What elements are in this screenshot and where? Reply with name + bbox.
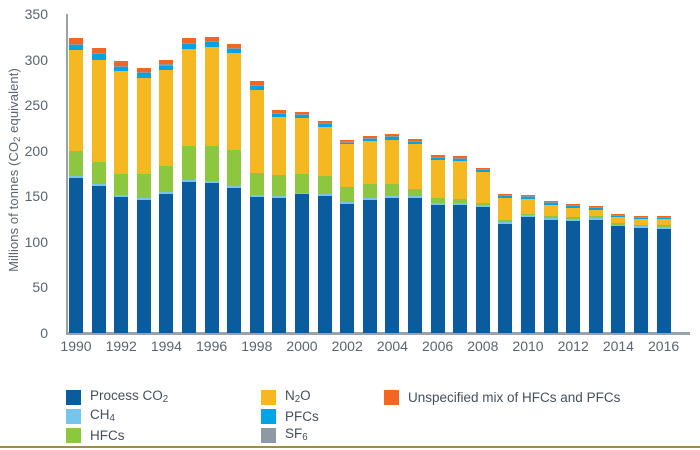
y-tick-label: 0 bbox=[8, 325, 48, 341]
legend-label-unspecified-mix: Unspecified mix of HFCs and PFCs bbox=[408, 390, 620, 405]
bar-segment-hfcs bbox=[92, 162, 106, 185]
bar-2008[interactable] bbox=[476, 168, 490, 333]
x-tick-label: 2004 bbox=[368, 338, 416, 354]
bar-segment-process-co2 bbox=[521, 217, 535, 333]
bar-2012[interactable] bbox=[566, 204, 580, 333]
bar-group bbox=[69, 14, 689, 333]
bar-2011[interactable] bbox=[544, 201, 558, 333]
legend-swatch-pfcs bbox=[261, 409, 276, 424]
y-tick-label: 150 bbox=[8, 188, 48, 204]
bar-segment-n2o bbox=[453, 161, 467, 199]
legend-label-sf6: SF6 bbox=[285, 426, 308, 443]
legend-item-n2o[interactable]: N2O bbox=[261, 388, 319, 406]
legend-item-ch4[interactable]: CH4 bbox=[66, 407, 168, 425]
bar-2015[interactable] bbox=[634, 216, 648, 333]
bar-segment-process-co2 bbox=[205, 183, 219, 333]
bar-segment-hfcs bbox=[295, 174, 309, 193]
bar-segment-process-co2 bbox=[250, 197, 264, 333]
chart-legend: Process CO2CH4HFCsN2OPFCsSF6Unspecified … bbox=[66, 388, 686, 444]
x-tick-label: 2010 bbox=[504, 338, 552, 354]
bar-segment-process-co2 bbox=[566, 221, 580, 333]
x-tick-label: 1998 bbox=[233, 338, 281, 354]
legend-swatch-ch4 bbox=[66, 409, 81, 424]
bar-segment-process-co2 bbox=[363, 200, 377, 333]
bar-segment-process-co2 bbox=[544, 220, 558, 333]
bar-segment-hfcs bbox=[340, 187, 354, 202]
bar-segment-process-co2 bbox=[137, 200, 151, 333]
bar-segment-n2o bbox=[295, 118, 309, 174]
bar-2009[interactable] bbox=[498, 194, 512, 333]
legend-swatch-process-co2 bbox=[66, 390, 81, 405]
x-tick-label: 1994 bbox=[142, 338, 190, 354]
bar-segment-hfcs bbox=[318, 176, 332, 194]
x-tick-label: 1990 bbox=[52, 338, 100, 354]
plot-area: 050100150200250300350 bbox=[66, 14, 690, 334]
bar-1992[interactable] bbox=[114, 61, 128, 333]
legend-column-2: Unspecified mix of HFCs and PFCs bbox=[384, 388, 620, 407]
y-tick-label: 350 bbox=[8, 6, 48, 22]
legend-swatch-hfcs bbox=[66, 428, 81, 443]
bar-1994[interactable] bbox=[159, 60, 173, 333]
bar-segment-n2o bbox=[431, 160, 445, 198]
bar-segment-n2o bbox=[521, 199, 535, 214]
x-axis-ticks: 1990199219941996199820002002200420062008… bbox=[66, 338, 690, 362]
legend-label-hfcs: HFCs bbox=[90, 428, 125, 443]
bar-segment-n2o bbox=[408, 144, 422, 189]
y-tick-label: 200 bbox=[8, 143, 48, 159]
x-tick-label: 2016 bbox=[640, 338, 688, 354]
bar-segment-process-co2 bbox=[272, 198, 286, 333]
legend-column-0: Process CO2CH4HFCs bbox=[66, 388, 168, 445]
bar-segment-n2o bbox=[137, 78, 151, 175]
bar-segment-n2o bbox=[476, 172, 490, 203]
legend-item-process-co2[interactable]: Process CO2 bbox=[66, 388, 168, 406]
bar-segment-process-co2 bbox=[227, 188, 241, 333]
bar-segment-hfcs bbox=[408, 189, 422, 196]
bar-2007[interactable] bbox=[453, 156, 467, 333]
bar-segment-process-co2 bbox=[340, 204, 354, 333]
bar-1997[interactable] bbox=[227, 44, 241, 333]
bar-segment-process-co2 bbox=[453, 205, 467, 334]
bar-1993[interactable] bbox=[137, 68, 151, 333]
bar-segment-process-co2 bbox=[318, 196, 332, 333]
x-tick-label: 2008 bbox=[459, 338, 507, 354]
bar-segment-n2o bbox=[250, 90, 264, 173]
bar-segment-n2o bbox=[227, 53, 241, 150]
bar-segment-process-co2 bbox=[589, 220, 603, 333]
legend-swatch-sf6 bbox=[261, 428, 276, 443]
y-tick-label: 300 bbox=[8, 52, 48, 68]
bar-2005[interactable] bbox=[408, 139, 422, 333]
x-tick-label: 2000 bbox=[278, 338, 326, 354]
bar-segment-process-co2 bbox=[295, 194, 309, 333]
legend-item-hfcs[interactable]: HFCs bbox=[66, 426, 168, 444]
legend-item-unspecified-mix[interactable]: Unspecified mix of HFCs and PFCs bbox=[384, 388, 620, 406]
bar-segment-n2o bbox=[205, 47, 219, 146]
y-tick-label: 100 bbox=[8, 234, 48, 250]
x-tick-label: 2002 bbox=[323, 338, 371, 354]
bottom-divider bbox=[0, 446, 700, 448]
bar-2010[interactable] bbox=[521, 195, 535, 333]
bar-segment-hfcs bbox=[69, 151, 83, 177]
bar-segment-hfcs bbox=[227, 150, 241, 186]
bar-segment-process-co2 bbox=[498, 224, 512, 333]
bar-segment-n2o bbox=[182, 49, 196, 147]
bar-segment-n2o bbox=[544, 205, 558, 217]
bar-segment-process-co2 bbox=[408, 198, 422, 333]
bar-segment-hfcs bbox=[205, 146, 219, 181]
bar-segment-hfcs bbox=[114, 174, 128, 195]
bar-segment-n2o bbox=[318, 127, 332, 176]
bar-2004[interactable] bbox=[385, 134, 399, 333]
legend-column-1: N2OPFCsSF6 bbox=[261, 388, 319, 445]
bar-segment-process-co2 bbox=[611, 226, 625, 333]
bar-segment-process-co2 bbox=[92, 186, 106, 333]
bar-segment-process-co2 bbox=[657, 229, 671, 333]
legend-swatch-n2o bbox=[261, 390, 276, 405]
bar-2001[interactable] bbox=[318, 121, 332, 333]
legend-item-sf6[interactable]: SF6 bbox=[261, 426, 319, 444]
bar-segment-hfcs bbox=[159, 166, 173, 192]
bar-1996[interactable] bbox=[205, 37, 219, 333]
y-tick-label: 50 bbox=[8, 279, 48, 295]
bar-segment-n2o bbox=[272, 117, 286, 175]
x-tick-label: 2014 bbox=[594, 338, 642, 354]
bar-1998[interactable] bbox=[250, 81, 264, 333]
bar-segment-n2o bbox=[114, 71, 128, 174]
x-tick-label: 2006 bbox=[414, 338, 462, 354]
bar-segment-hfcs bbox=[182, 146, 196, 180]
legend-label-process-co2: Process CO2 bbox=[90, 388, 168, 405]
bar-segment-process-co2 bbox=[114, 197, 128, 333]
legend-swatch-unspecified-mix bbox=[384, 390, 399, 405]
x-tick-label: 1996 bbox=[188, 338, 236, 354]
bar-2003[interactable] bbox=[363, 136, 377, 333]
bar-2006[interactable] bbox=[431, 155, 445, 333]
bar-segment-process-co2 bbox=[159, 194, 173, 333]
bar-segment-hfcs bbox=[250, 173, 264, 196]
bar-segment-n2o bbox=[69, 50, 83, 150]
bar-segment-n2o bbox=[340, 144, 354, 187]
bar-1991[interactable] bbox=[92, 48, 106, 333]
chart-figure: Millions of tonnes (CO2 equivalent) 0501… bbox=[0, 0, 700, 450]
bar-2014[interactable] bbox=[611, 214, 625, 333]
bar-segment-hfcs bbox=[137, 174, 151, 198]
bar-segment-hfcs bbox=[363, 184, 377, 198]
bar-segment-n2o bbox=[92, 60, 106, 162]
x-tick-label: 1992 bbox=[97, 338, 145, 354]
legend-label-n2o: N2O bbox=[285, 388, 311, 405]
bar-1999[interactable] bbox=[272, 110, 286, 333]
bar-2000[interactable] bbox=[295, 112, 309, 333]
bar-segment-process-co2 bbox=[431, 205, 445, 334]
bar-2013[interactable] bbox=[589, 206, 603, 333]
bar-1995[interactable] bbox=[182, 38, 196, 333]
bar-segment-n2o bbox=[498, 198, 512, 220]
bar-segment-n2o bbox=[566, 208, 580, 217]
bar-segment-process-co2 bbox=[476, 207, 490, 333]
legend-item-pfcs[interactable]: PFCs bbox=[261, 407, 319, 425]
y-axis-line bbox=[66, 14, 68, 334]
legend-label-ch4: CH4 bbox=[90, 407, 115, 424]
bar-2002[interactable] bbox=[340, 140, 354, 333]
bar-segment-process-co2 bbox=[182, 182, 196, 333]
x-tick-label: 2012 bbox=[549, 338, 597, 354]
bar-segment-n2o bbox=[159, 70, 173, 167]
bar-segment-process-co2 bbox=[69, 178, 83, 333]
bar-segment-hfcs bbox=[272, 175, 286, 196]
bar-segment-n2o bbox=[385, 140, 399, 185]
y-tick-label: 250 bbox=[8, 97, 48, 113]
bar-segment-process-co2 bbox=[385, 198, 399, 333]
legend-label-pfcs: PFCs bbox=[285, 409, 319, 424]
bar-1990[interactable] bbox=[69, 38, 83, 333]
bar-2016[interactable] bbox=[657, 216, 671, 333]
bar-segment-hfcs bbox=[385, 184, 399, 196]
bar-segment-n2o bbox=[363, 141, 377, 185]
bar-segment-process-co2 bbox=[634, 228, 648, 333]
